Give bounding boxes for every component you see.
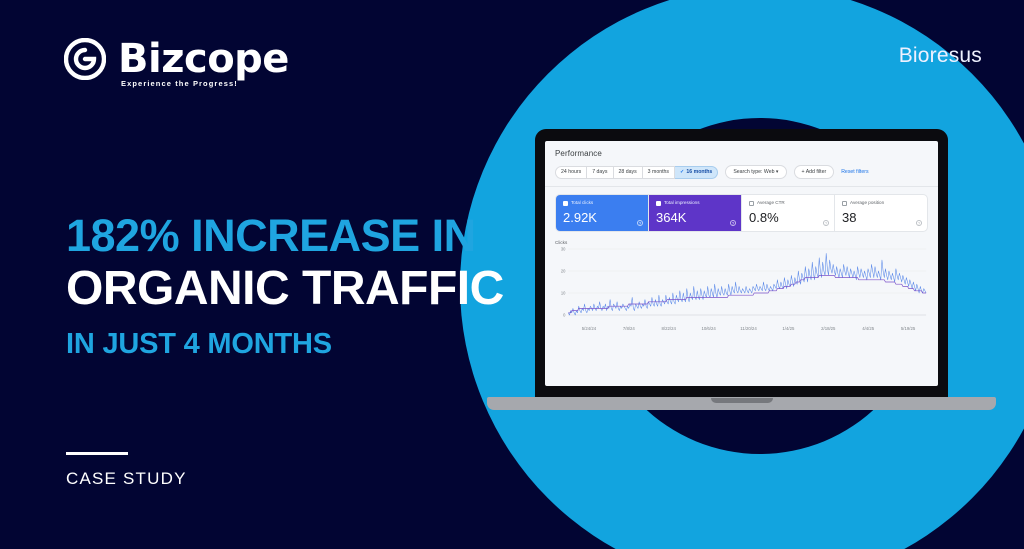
laptop-base-notch: [711, 398, 773, 403]
metric-card-2[interactable]: Average CTR0.8%?: [741, 195, 834, 231]
checkbox-checked-icon[interactable]: [563, 201, 568, 206]
dashboard-toolbar: 24 hours7 days28 days3 months✓16 months …: [545, 165, 938, 187]
y-axis-tick: 0: [563, 313, 566, 318]
footer-divider: [66, 452, 128, 455]
headline-line-1: 182% INCREASE IN: [66, 212, 504, 260]
info-icon[interactable]: ?: [637, 220, 643, 226]
x-axis-tick-1: 7/8/24: [609, 326, 649, 331]
date-chip-label: 7 days: [592, 169, 607, 175]
laptop-mockup: Performance 24 hours7 days28 days3 month…: [535, 129, 948, 400]
metric-label: Total clicks: [571, 201, 593, 206]
footer: CASE STUDY: [66, 452, 187, 489]
checkbox-icon[interactable]: [749, 201, 754, 206]
metric-label: Average position: [850, 201, 884, 206]
x-axis-tick-8: 5/19/25: [888, 326, 928, 331]
laptop-screen: Performance 24 hours7 days28 days3 month…: [545, 141, 938, 386]
metric-card-1[interactable]: Total impressions364K?: [648, 195, 741, 231]
date-chip-1[interactable]: 7 days: [587, 166, 613, 179]
x-axis-tick-2: 8/22/24: [649, 326, 689, 331]
logo-wordmark: Bizcope: [118, 39, 289, 79]
headline-line-3: IN JUST 4 MONTHS: [66, 329, 504, 361]
chart-plot: 0102030: [555, 246, 928, 324]
metric-card-group: Total clicks2.92K?Total impressions364K?…: [555, 194, 928, 232]
logo-tagline: Experience the Progress!: [121, 79, 238, 88]
y-axis-tick: 20: [561, 269, 566, 274]
metric-header: Average CTR: [749, 201, 827, 206]
x-axis-tick-7: 4/4/25: [848, 326, 888, 331]
y-axis-tick: 10: [561, 291, 566, 296]
chart-series-label: Clicks: [555, 240, 928, 245]
x-axis-tick-3: 10/6/24: [689, 326, 729, 331]
date-chip-label: 28 days: [619, 169, 637, 175]
info-icon[interactable]: ?: [823, 220, 829, 226]
check-icon: ✓: [680, 169, 684, 175]
metric-label: Average CTR: [757, 201, 785, 206]
brand-logo: Bizcope Experience the Progress!: [64, 38, 289, 80]
date-chip-0[interactable]: 24 hours: [555, 166, 587, 179]
info-icon[interactable]: ?: [730, 220, 736, 226]
date-range-chip-group[interactable]: 24 hours7 days28 days3 months✓16 months: [555, 166, 718, 179]
headline: 182% INCREASE IN ORGANIC TRAFFIC IN JUST…: [66, 212, 504, 360]
case-study-label: CASE STUDY: [66, 469, 187, 489]
info-icon[interactable]: ?: [916, 220, 922, 226]
y-axis-tick: 30: [561, 247, 566, 252]
metric-value: 38: [842, 211, 920, 224]
search-type-filter[interactable]: Search type: Web ▾: [725, 165, 786, 179]
x-axis-tick-5: 1/4/25: [768, 326, 808, 331]
search-type-label: Search type: Web: [733, 169, 774, 175]
x-axis-tick-0: 5/24/24: [569, 326, 609, 331]
laptop-lid: Performance 24 hours7 days28 days3 month…: [535, 129, 948, 400]
checkbox-icon[interactable]: [842, 201, 847, 206]
chart-x-axis: 5/24/247/8/248/22/2410/6/2411/20/241/4/2…: [555, 326, 928, 331]
x-axis-tick-4: 11/20/24: [729, 326, 769, 331]
metric-card-3[interactable]: Average position38?: [834, 195, 927, 231]
add-filter-button[interactable]: + Add filter: [794, 165, 835, 179]
checkbox-checked-icon[interactable]: [656, 201, 661, 206]
chart-series-line-0: [568, 254, 926, 316]
metric-card-0[interactable]: Total clicks2.92K?: [556, 195, 648, 231]
date-chip-4[interactable]: ✓16 months: [675, 166, 718, 179]
metric-header: Total impressions: [656, 201, 734, 206]
metric-value: 364K: [656, 211, 734, 224]
client-name: Bioresus: [899, 44, 982, 68]
bizcope-g-mark-icon: [64, 38, 106, 80]
metric-header: Average position: [842, 201, 920, 206]
metric-label: Total impressions: [664, 201, 700, 206]
metric-header: Total clicks: [563, 201, 641, 206]
date-chip-2[interactable]: 28 days: [614, 166, 643, 179]
headline-line-2: ORGANIC TRAFFIC: [66, 264, 504, 315]
date-chip-3[interactable]: 3 months: [643, 166, 675, 179]
date-chip-label: 24 hours: [561, 169, 581, 175]
reset-filters-link[interactable]: Reset filters: [841, 170, 868, 175]
date-chip-label: 16 months: [686, 169, 712, 175]
dashboard-title: Performance: [545, 141, 938, 165]
x-axis-tick-6: 2/18/25: [808, 326, 848, 331]
metric-value: 0.8%: [749, 211, 827, 224]
chevron-down-icon: ▾: [776, 169, 779, 175]
performance-chart: Clicks 0102030 5/24/247/8/248/22/2410/6/…: [555, 240, 928, 331]
metric-value: 2.92K: [563, 211, 641, 224]
date-chip-label: 3 months: [648, 169, 669, 175]
